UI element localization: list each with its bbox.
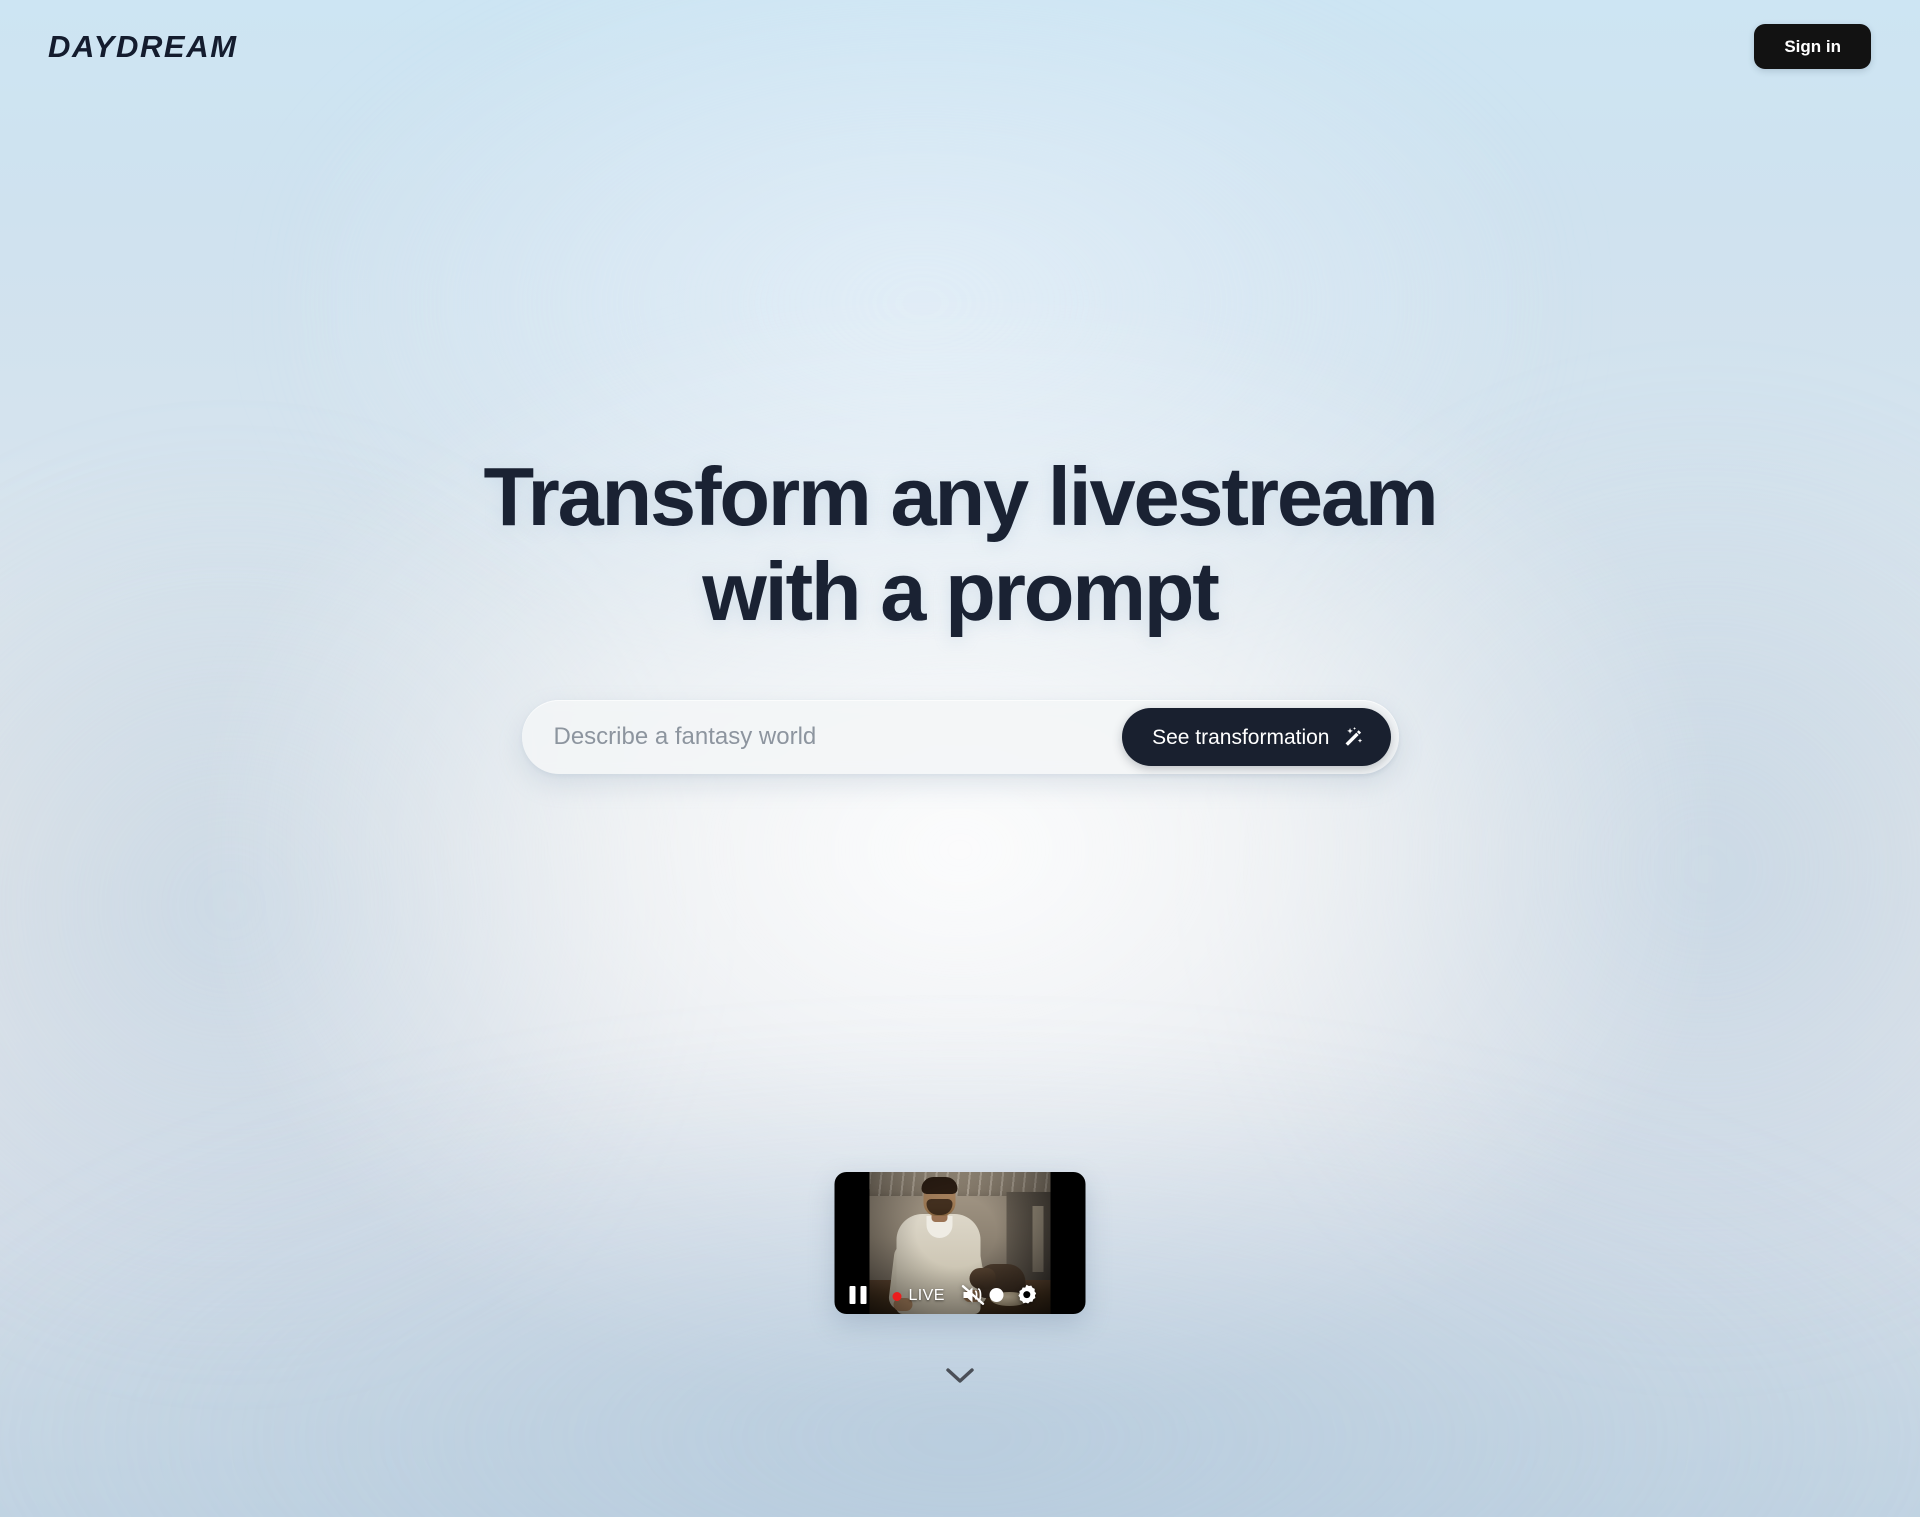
chevron-down-icon[interactable] [940,1362,980,1390]
see-transformation-button[interactable]: See transformation [1122,708,1390,766]
headline-line-2: with a prompt [0,550,1920,633]
live-label: LIVE [909,1288,945,1304]
top-navigation-bar: DAYDREAM Sign in [0,0,1920,92]
headline-line-1: Transform any livestream [0,455,1920,538]
prompt-bar-container: See transformation [0,700,1920,774]
sign-in-button[interactable]: Sign in [1754,24,1871,69]
live-preview-player-container: LIVE [835,1172,1086,1314]
live-dot-icon [893,1292,902,1301]
hero-section: Transform any livestream with a prompt S… [0,455,1920,774]
gear-icon[interactable] [1015,1283,1039,1307]
brand-logo[interactable]: DAYDREAM [48,31,238,62]
pause-bar-right [861,1286,867,1304]
magic-wand-icon [1342,726,1365,749]
mute-icon[interactable] [962,1284,986,1306]
live-preview-player[interactable]: LIVE [835,1172,1086,1314]
see-transformation-label: See transformation [1152,727,1329,748]
prompt-bar[interactable]: See transformation [522,700,1399,774]
prompt-input[interactable] [554,723,1123,751]
page-title: Transform any livestream with a prompt [0,455,1920,633]
pause-icon[interactable] [850,1286,867,1304]
player-controls: LIVE [835,1276,1086,1314]
live-status-badge: LIVE [893,1288,945,1304]
record-dot-icon[interactable] [990,1288,1004,1302]
pause-bar-left [850,1286,856,1304]
